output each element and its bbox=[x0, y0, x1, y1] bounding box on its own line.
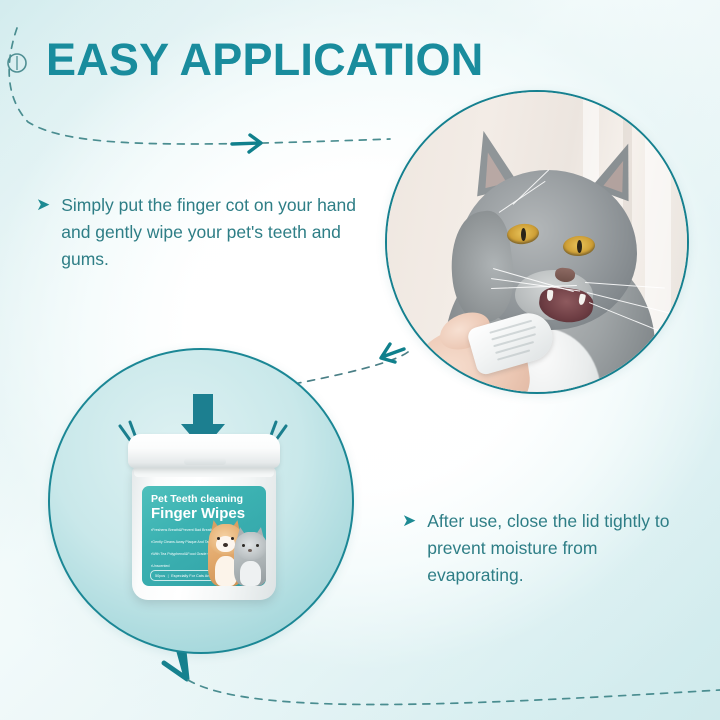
jar-neck bbox=[134, 468, 274, 477]
label-feature: ▪Unscented bbox=[151, 564, 169, 568]
arrowhead-bullet-icon: ➤ bbox=[36, 194, 50, 216]
product-jar-photo: Pet Teeth cleaning Finger Wipes ▪Freshen… bbox=[48, 348, 354, 654]
cat-illustration bbox=[234, 532, 266, 586]
label-pets-artwork bbox=[206, 508, 266, 586]
jar-container: Pet Teeth cleaning Finger Wipes ▪Freshen… bbox=[128, 434, 280, 602]
jar-label: Pet Teeth cleaning Finger Wipes ▪Freshen… bbox=[142, 486, 266, 586]
infographic-canvas: EASY APPLICATION ➤ Simply put the finger… bbox=[0, 0, 720, 720]
cat-pupil-left bbox=[521, 228, 526, 241]
step-1-text: Simply put the finger cot on your hand a… bbox=[61, 192, 366, 273]
jar-lid-tab bbox=[184, 458, 226, 465]
jar-lid bbox=[128, 434, 280, 468]
circle-marker-icon bbox=[8, 54, 26, 72]
label-feature: ▪Gently Cleans Away Plaque And Tartar bbox=[151, 540, 214, 544]
dashed-path-bottom bbox=[188, 680, 720, 705]
label-title-line1: Pet Teeth cleaning bbox=[151, 493, 243, 505]
step-1: ➤ Simply put the finger cot on your hand… bbox=[36, 192, 366, 273]
page-title: EASY APPLICATION bbox=[46, 36, 483, 83]
dashed-arrow-right-icon bbox=[232, 135, 261, 152]
cat-teeth-wiping-photo bbox=[385, 90, 689, 394]
step-2: ➤ After use, close the lid tightly to pr… bbox=[402, 508, 677, 589]
arrowhead-bullet-icon: ➤ bbox=[402, 510, 416, 532]
label-feature: ▪Freshens Breath&Prevent Bad Breath bbox=[151, 528, 213, 532]
step-2-text: After use, close the lid tightly to prev… bbox=[427, 508, 677, 589]
label-quantity: 50pcs bbox=[155, 574, 165, 578]
cat-pupil-right bbox=[577, 240, 582, 253]
